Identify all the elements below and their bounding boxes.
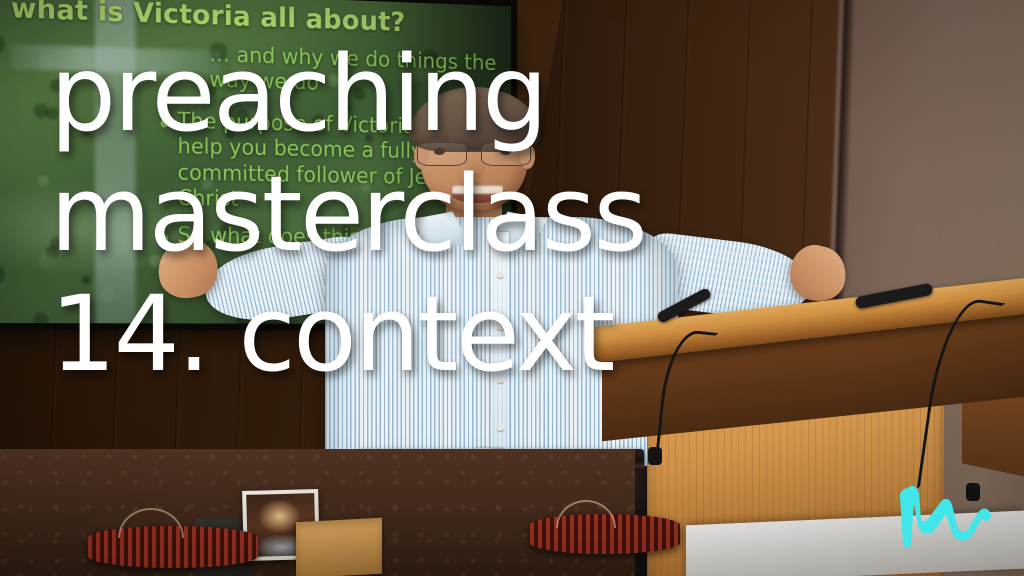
video-thumbnail: what is Victoria all about? … and why we… (0, 0, 1024, 576)
mic-mount (648, 447, 662, 465)
stage-photograph: what is Victoria all about? … and why we… (0, 0, 1024, 576)
shirt-placket (491, 232, 509, 457)
speaker-nose (470, 157, 485, 178)
shirt-button (497, 378, 504, 383)
brand-w-logo-icon (894, 470, 1006, 562)
shirt-button (497, 425, 504, 430)
wooden-box (296, 518, 382, 576)
speaker-smile (452, 185, 504, 202)
shirt-button (497, 272, 504, 277)
